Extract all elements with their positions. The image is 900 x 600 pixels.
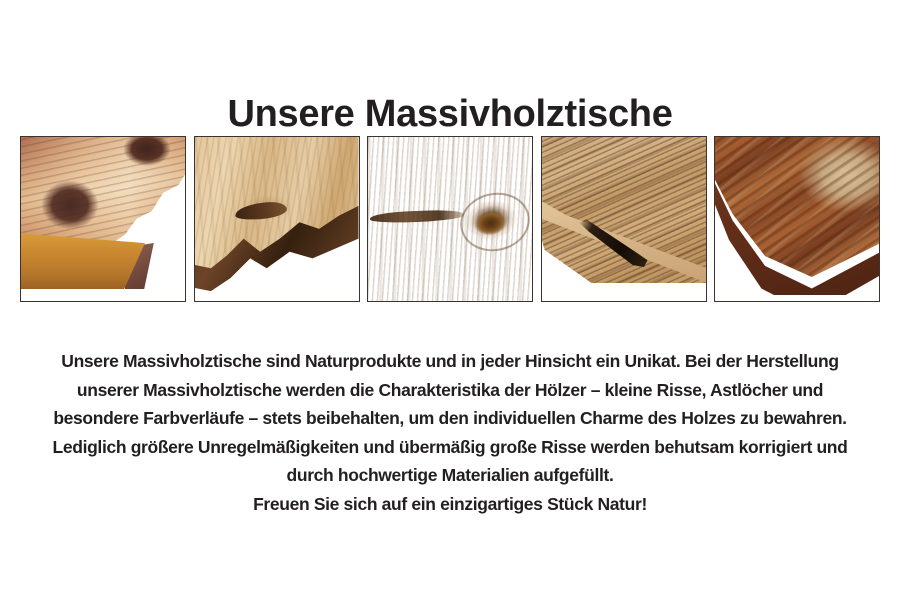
page-root: Unsere Massivholztische [0,0,900,600]
wood-detail-gallery [20,136,880,302]
gallery-item-light-live-edge[interactable] [194,136,360,302]
description-paragraph-closing: Freuen Sie sich auf ein einzigartiges St… [40,490,860,519]
gallery-item-sheesham-grain[interactable] [714,136,880,302]
gallery-item-knot-and-crack[interactable] [367,136,533,302]
description-paragraph-main: Unsere Massivholztische sind Naturproduk… [40,347,860,490]
wood-image-sawn-board-fissure [542,137,706,301]
wood-image-burl-corner [21,137,185,301]
gallery-item-sawn-board-fissure[interactable] [541,136,707,302]
description-text: Unsere Massivholztische sind Naturproduk… [40,347,860,518]
page-title: Unsere Massivholztische [0,93,900,136]
wood-image-sheesham-grain [715,137,879,301]
wood-image-light-live-edge [195,137,359,301]
wood-image-knot-and-crack [368,137,532,301]
gallery-item-burl-corner[interactable] [20,136,186,302]
